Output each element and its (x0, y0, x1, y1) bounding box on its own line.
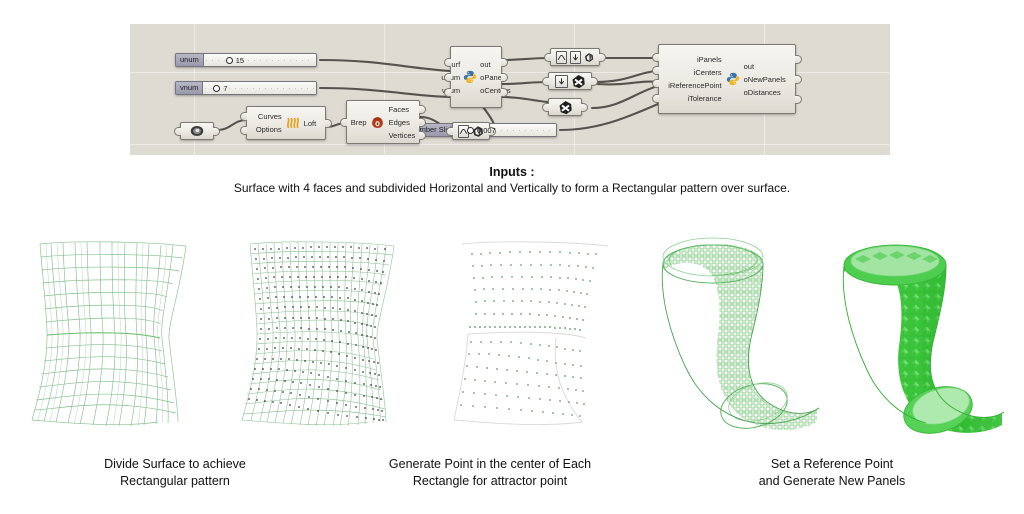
loft-icon-wrap (285, 117, 301, 129)
output-nub[interactable] (556, 126, 557, 135)
panel-grid-fill (645, 226, 830, 441)
brep-output-vertices: Vertices (389, 129, 416, 142)
newpanels-output-onewpanels: oNewPanels (744, 73, 786, 86)
output-nub[interactable] (795, 75, 802, 84)
canvas-gridline (130, 144, 890, 145)
loft-output-loft: Loft (304, 117, 317, 130)
caption-new-panels: Set a Reference Point and Generate New P… (646, 456, 1018, 490)
input-nub[interactable] (174, 127, 181, 136)
python-icon (726, 72, 740, 86)
slider-unum-knob[interactable] (226, 57, 233, 64)
output-nub[interactable] (419, 105, 426, 114)
graph-icon[interactable] (556, 51, 567, 64)
slider-ticks (206, 60, 314, 61)
figure-center-points (228, 232, 418, 442)
input-nub[interactable] (444, 73, 451, 82)
component-loft[interactable]: Curves Options Loft (246, 106, 326, 140)
point-icon (571, 74, 586, 89)
loft-outputs: Loft (301, 117, 317, 130)
newpanels-output-odistances: oDistances (744, 86, 781, 99)
param-geometry-b[interactable] (180, 122, 214, 140)
slider-vnum-knob[interactable] (213, 85, 220, 92)
loft-inputs: Curves Options (256, 110, 285, 136)
newpanels-input-icenters: iCenters (694, 66, 722, 79)
geometry-icon (189, 124, 205, 138)
output-nub[interactable] (419, 131, 426, 140)
loft-icon (286, 117, 300, 129)
loft-input-curves: Curves (258, 110, 282, 123)
output-nub[interactable] (795, 95, 802, 104)
figure-newpanels-wire (645, 226, 830, 441)
newpanels-outputs: out oNewPanels oDistances (741, 60, 786, 99)
slider-number-knob[interactable] (467, 127, 474, 134)
python-icon-wrap (463, 70, 477, 84)
input-nub[interactable] (240, 126, 247, 135)
slider-vnum[interactable]: vnum 7 (175, 81, 317, 95)
slider-number-value: 0.007 (477, 126, 496, 135)
slider-vnum-label: vnum (176, 82, 203, 94)
brep-output-edges: Edges (389, 116, 410, 129)
figure-divide-surface (18, 232, 208, 442)
input-nub[interactable] (340, 118, 347, 127)
slider-vnum-value: 7 (223, 84, 227, 93)
inputs-caption: Inputs : Surface with 4 faces and subdiv… (0, 164, 1024, 197)
python-icon (463, 70, 477, 84)
input-nub[interactable] (544, 53, 551, 62)
surface-panels-shaded (822, 226, 1022, 441)
down-arrow-icon[interactable] (555, 75, 568, 88)
brep-input-brep: Brep (351, 116, 367, 129)
input-nub[interactable] (444, 58, 451, 67)
brep-icon (371, 116, 384, 129)
loft-input-options: Options (256, 123, 282, 136)
input-nub[interactable] (652, 79, 659, 88)
output-nub[interactable] (581, 103, 588, 112)
slider-unum-value: 15 (236, 56, 244, 65)
brep-inputs: Brep (351, 116, 370, 129)
input-nub[interactable] (542, 103, 549, 112)
surface-pointcloud (440, 232, 630, 442)
input-nub[interactable] (446, 127, 453, 136)
surface-wireframe-1 (18, 232, 208, 442)
newpanels-input-itolerance: iTolerance (687, 92, 721, 105)
caption-line-2: Rectangle for attractor point (290, 473, 690, 490)
newpanels-inputs: iPanels iCenters iReferencePoint iTolera… (668, 53, 724, 105)
python-icon-wrap (725, 72, 741, 86)
caption-center-points: Generate Point in the center of Each Rec… (290, 456, 690, 490)
attractor-point-dots (460, 251, 597, 417)
python-output-out: out (480, 58, 490, 71)
caption-line-1: Set a Reference Point (646, 456, 1018, 473)
newpanels-input-irefpoint: iReferencePoint (668, 79, 721, 92)
output-nub[interactable] (316, 84, 317, 93)
input-nub[interactable] (240, 112, 247, 121)
figure-newpanels-shaded (822, 226, 1022, 441)
newpanels-output-out: out (744, 60, 754, 73)
down-arrow-icon[interactable] (570, 51, 581, 64)
point-icon (558, 100, 573, 115)
input-nub[interactable] (652, 94, 659, 103)
output-nub[interactable] (213, 127, 220, 136)
slider-number-track[interactable]: 0.007 (463, 124, 556, 136)
slider-unum-label: unum (176, 54, 204, 66)
surface-panels-wire (645, 226, 830, 441)
output-nub[interactable] (599, 53, 606, 62)
slider-vnum-track[interactable]: 7 (203, 82, 316, 94)
caption-line-2: and Generate New Panels (646, 473, 1018, 490)
inputs-caption-description: Surface with 4 faces and subdivided Hori… (0, 180, 1024, 197)
top-opening (844, 245, 946, 285)
output-nub[interactable] (795, 55, 802, 64)
output-nub[interactable] (316, 56, 317, 65)
output-nub[interactable] (325, 119, 332, 128)
caption-line-1: Generate Point in the center of Each (290, 456, 690, 473)
brep-outputs: Faces Edges Vertices (386, 103, 416, 142)
brep-icon-wrap (370, 116, 386, 129)
grasshopper-canvas[interactable]: unum 15 vnum 7 Number Slider 0.007 (130, 24, 890, 155)
component-deconstruct-brep[interactable]: Brep Faces Edges Vertices (346, 100, 420, 144)
component-python-panels[interactable]: surf unum vnum out oPanels oCenters (450, 46, 502, 108)
inputs-caption-title: Inputs : (0, 164, 1024, 180)
brep-output-faces: Faces (389, 103, 409, 116)
surface-wireframe-2 (228, 232, 418, 442)
slider-ticks (205, 88, 314, 89)
input-nub[interactable] (542, 77, 549, 86)
slider-unum-track[interactable]: 15 (204, 54, 316, 66)
figure-attractor-points (440, 232, 630, 442)
slider-unum[interactable]: unum 15 (175, 53, 317, 67)
newpanels-input-ipanels: iPanels (697, 53, 722, 66)
param-flatten-a[interactable] (550, 48, 600, 66)
geometry-icon (584, 50, 594, 65)
input-nub[interactable] (652, 66, 659, 75)
input-nub[interactable] (444, 88, 451, 97)
input-nub[interactable] (652, 53, 659, 62)
param-flatten-point[interactable] (548, 72, 592, 90)
output-nub[interactable] (591, 77, 598, 86)
component-python-newpanels[interactable]: iPanels iCenters iReferencePoint iTolera… (658, 44, 796, 114)
param-point[interactable] (548, 98, 582, 116)
